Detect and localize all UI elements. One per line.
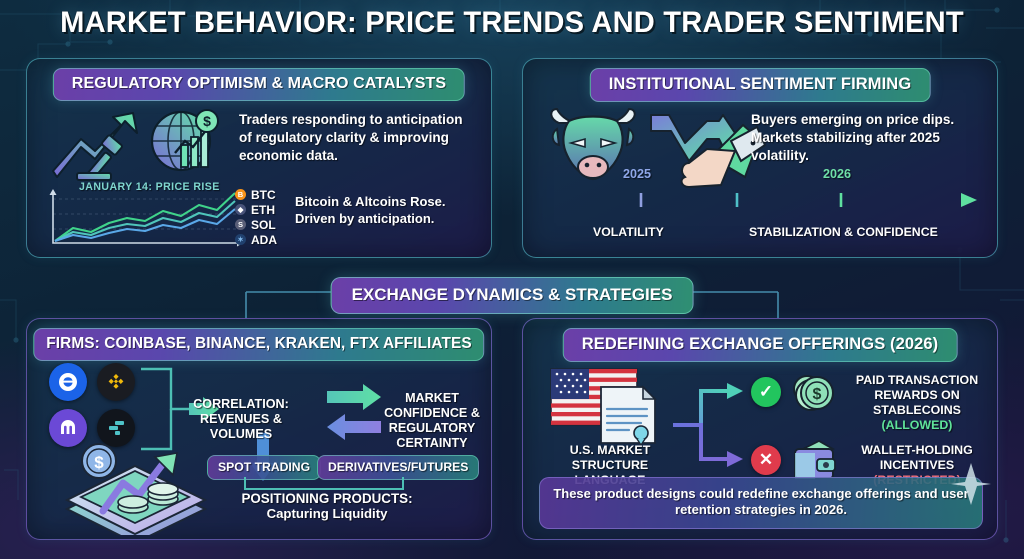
ada-icon: ✶ xyxy=(235,234,246,245)
sentiment-timeline: 2025 2026 VOLATILITY STABILIZATION & CON… xyxy=(541,185,981,247)
market-confidence-node-label: MARKET CONFIDENCE & REGULATORY CERTAINTY xyxy=(379,391,485,450)
legend-label: ETH xyxy=(251,203,275,217)
timeline-segment-stabilization: STABILIZATION & CONFIDENCE xyxy=(749,225,938,239)
panel-firms: FIRMS: COINBASE, BINANCE, KRAKEN, FTX AF… xyxy=(26,318,492,540)
legend-item-btc: B BTC xyxy=(235,187,277,202)
regulatory-body-text: Traders responding to anticipation of re… xyxy=(239,111,479,165)
bitcoin-note-line2: Driven by anticipation. xyxy=(295,210,485,227)
stacked-coins-icon: $ xyxy=(789,369,837,417)
institutional-body-text: Buyers emerging on price dips. Markets s… xyxy=(751,111,991,165)
btc-icon: B xyxy=(235,189,246,200)
redefining-footer-banner: These product designs could redefine exc… xyxy=(539,477,983,529)
panel-header-redefining: REDEFINING EXCHANGE OFFERINGS (2026) xyxy=(563,328,958,362)
panel-regulatory-optimism: REGULATORY OPTIMISM & MACRO CATALYSTS xyxy=(26,58,492,258)
allowed-badge: (ALLOWED) xyxy=(882,418,953,432)
coinbase-logo xyxy=(49,363,87,401)
page-title: MARKET BEHAVIOR: PRICE TRENDS AND TRADER… xyxy=(15,6,1008,40)
infographic-root: MARKET BEHAVIOR: PRICE TRENDS AND TRADER… xyxy=(0,0,1024,559)
timeline-axis xyxy=(541,185,981,213)
legend-item-sol: S SOL xyxy=(235,217,277,232)
legend-label: ADA xyxy=(251,233,277,247)
legend-label: SOL xyxy=(251,218,276,232)
growth-arrow-gavel-icon: $ xyxy=(51,107,231,185)
bitcoin-note: Bitcoin & Altcoins Rose. Driven by antic… xyxy=(295,193,485,228)
row-label-text: PAID TRANSACTION REWARDS ON STABLECOINS xyxy=(856,373,978,417)
sol-icon: S xyxy=(235,219,246,230)
bitcoin-note-line1: Bitcoin & Altcoins Rose. xyxy=(295,193,485,210)
price-rise-line-chart xyxy=(39,187,249,249)
panel-header-regulatory: REGULATORY OPTIMISM & MACRO CATALYSTS xyxy=(53,68,465,101)
bull-head-icon xyxy=(537,103,767,189)
sparkle-icon xyxy=(951,461,991,507)
svg-text:$: $ xyxy=(203,113,211,129)
legend-item-ada: ✶ ADA xyxy=(235,232,277,247)
panel-redefining-offerings: REDEFINING EXCHANGE OFFERINGS (2026) xyxy=(522,318,998,540)
market-confidence-text: MARKET CONFIDENCE & REGULATORY CERTAINTY xyxy=(379,391,485,450)
correlation-text: CORRELATION: REVENUES & VOLUMES xyxy=(187,397,295,442)
status-cross-icon: ✕ xyxy=(751,445,781,475)
paid-transaction-rewards-label: PAID TRANSACTION REWARDS ON STABLECOINS … xyxy=(843,373,991,434)
correlation-node-label: CORRELATION: REVENUES & VOLUMES xyxy=(187,397,295,442)
panel-header-institutional: INSTITUTIONAL SENTIMENT FIRMING xyxy=(590,68,931,102)
exchange-dynamics-banner: EXCHANGE DYNAMICS & STRATEGIES xyxy=(331,277,694,314)
status-check-icon: ✓ xyxy=(751,377,781,407)
svg-text:$: $ xyxy=(94,453,104,472)
panel-header-firms: FIRMS: COINBASE, BINANCE, KRAKEN, FTX AF… xyxy=(33,328,484,361)
panel-institutional-sentiment: INSTITUTIONAL SENTIMENT FIRMING xyxy=(522,58,998,258)
positioning-line1: POSITIONING PRODUCTS: xyxy=(177,491,477,506)
positioning-products-footer: POSITIONING PRODUCTS: Capturing Liquidit… xyxy=(177,491,477,521)
us-flag-document-icon xyxy=(549,365,669,447)
timeline-year-2025: 2025 xyxy=(623,167,651,181)
svg-text:$: $ xyxy=(813,386,822,403)
legend-item-eth: ◆ ETH xyxy=(235,202,277,217)
timeline-segment-volatility: VOLATILITY xyxy=(593,225,664,239)
timeline-year-2026: 2026 xyxy=(823,167,851,181)
legend-label: BTC xyxy=(251,188,276,202)
eth-icon: ◆ xyxy=(235,204,246,215)
crypto-legend: B BTC ◆ ETH S SOL ✶ ADA xyxy=(235,187,277,247)
positioning-line2: Capturing Liquidity xyxy=(177,506,477,521)
